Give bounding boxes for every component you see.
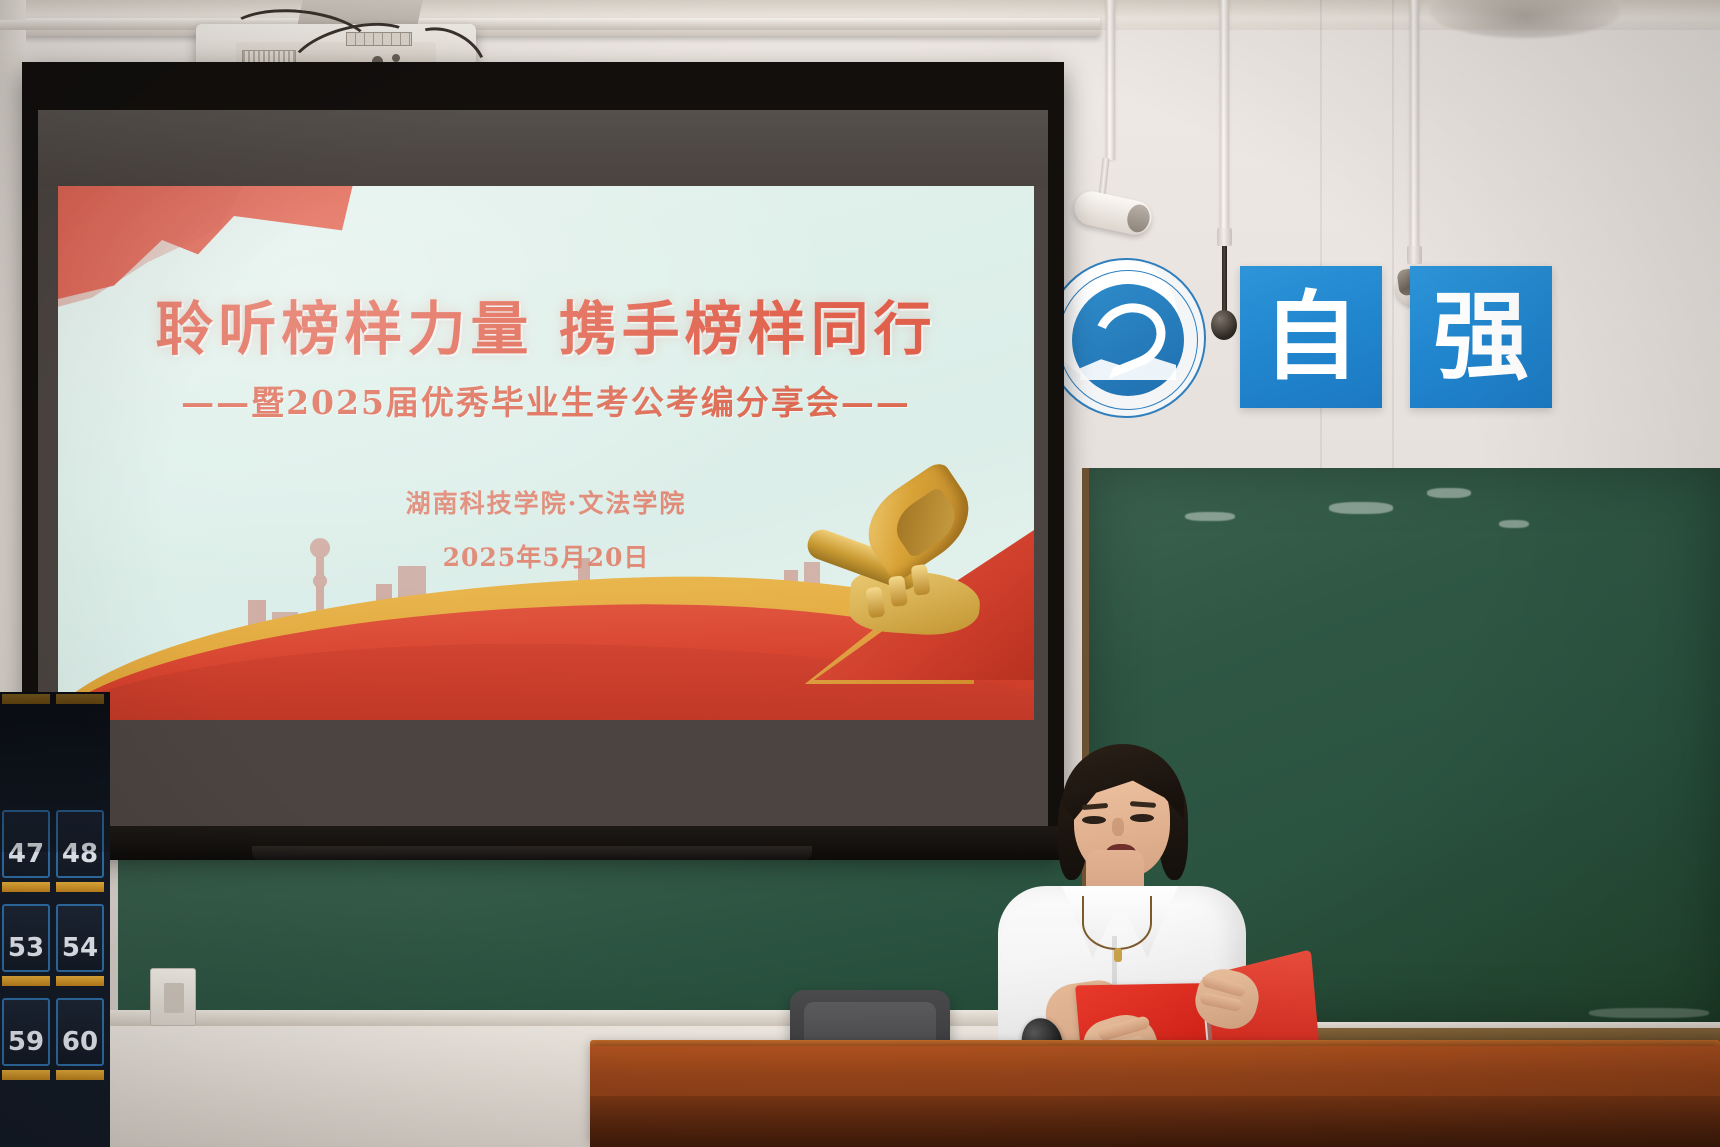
eye-left bbox=[1082, 816, 1106, 824]
motto-sign-qiang: 强 bbox=[1410, 266, 1552, 408]
rail-rod-2 bbox=[1222, 246, 1227, 318]
school-emblem bbox=[1046, 258, 1206, 418]
pocket-strip bbox=[2, 976, 50, 986]
wall-seam-b bbox=[1392, 0, 1394, 480]
slide-subtitle: ——暨2025届优秀毕业生考公考编分享会—— bbox=[58, 376, 1034, 424]
classroom-photo-scene: 自 强 bbox=[0, 0, 1720, 1147]
rail-joint-2 bbox=[1217, 228, 1232, 246]
chalk-smudge-4 bbox=[1185, 512, 1235, 521]
slide-date: 2025年5月20日 bbox=[58, 538, 1034, 574]
necklace-pendant bbox=[1114, 948, 1122, 962]
wall-seam-a bbox=[1320, 0, 1322, 480]
pocket-strip bbox=[2, 882, 50, 892]
pocket-strip bbox=[56, 976, 104, 986]
projection-screen-roller bbox=[252, 846, 812, 860]
pocket-number: 54 bbox=[56, 904, 104, 972]
slide-title: 聆听榜样力量 携手榜样同行 bbox=[58, 282, 1034, 366]
ceiling-rail-2 bbox=[1220, 0, 1229, 234]
skyline-tower-ball bbox=[313, 574, 327, 588]
slide-organization: 湖南科技学院·文法学院 bbox=[58, 484, 1034, 520]
projector-rail bbox=[0, 20, 1100, 30]
nose bbox=[1112, 818, 1124, 836]
wall-switch[interactable] bbox=[150, 968, 196, 1026]
desk-shadow bbox=[590, 1096, 1720, 1147]
pocket-number: 53 bbox=[2, 904, 50, 972]
necklace bbox=[1082, 896, 1152, 950]
chalk-smudge-3 bbox=[1499, 520, 1529, 528]
presentation-slide: 聆听榜样力量 携手榜样同行 ——暨2025届优秀毕业生考公考编分享会—— 湖南科… bbox=[58, 186, 1034, 720]
chalk-smudge-5 bbox=[1589, 1008, 1709, 1018]
chalk-smudge-1 bbox=[1329, 502, 1393, 514]
pocket-strip bbox=[56, 882, 104, 892]
eye-right bbox=[1130, 814, 1154, 822]
pocket-strip bbox=[56, 1070, 104, 1080]
pocket-chart-shadow bbox=[0, 692, 110, 852]
ceiling-rail-1 bbox=[1106, 0, 1115, 160]
ceiling-rail-3 bbox=[1410, 0, 1419, 252]
pocket-strip bbox=[2, 1070, 50, 1080]
pocket-number: 59 bbox=[2, 998, 50, 1066]
motto-sign-zi: 自 bbox=[1240, 266, 1382, 408]
rail-knob-2 bbox=[1211, 310, 1237, 340]
rail-joint-3 bbox=[1407, 246, 1422, 264]
chalk-smudge-2 bbox=[1427, 488, 1471, 498]
pocket-number: 60 bbox=[56, 998, 104, 1066]
projection-screen-top-shade bbox=[38, 110, 1048, 186]
